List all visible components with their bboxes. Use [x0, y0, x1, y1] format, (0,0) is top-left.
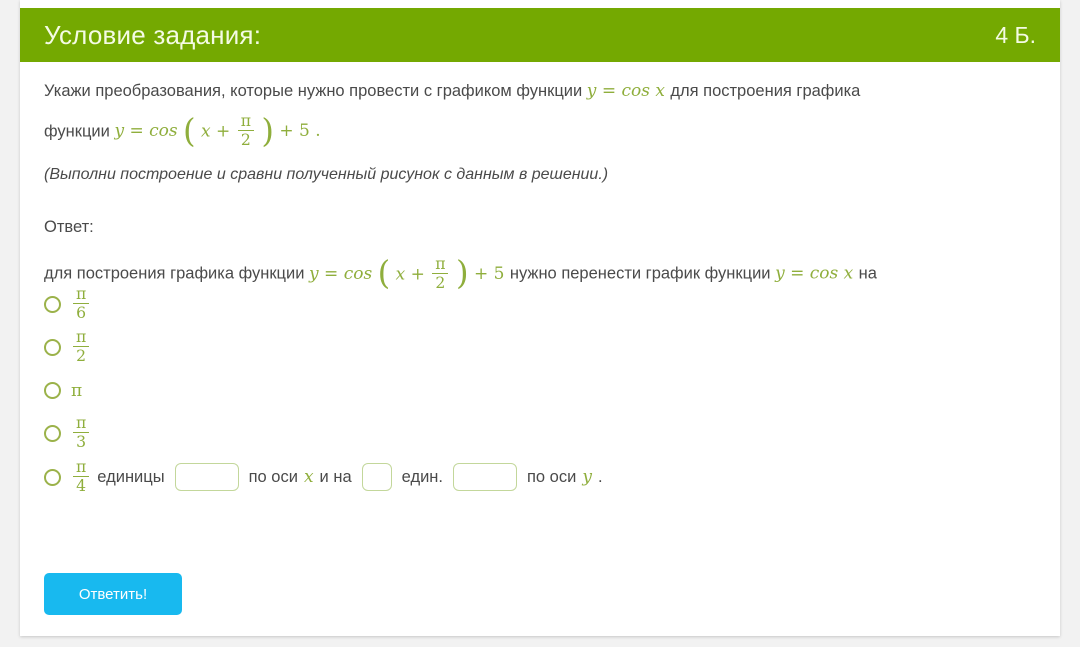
radio-button-pi-2[interactable] — [44, 339, 61, 356]
fraction-numerator: π — [432, 256, 448, 273]
answer-line-suffix: на — [859, 265, 877, 283]
option-row-pi-6[interactable]: π 6 — [44, 283, 1004, 326]
math-plus: + — [216, 121, 230, 141]
option-value-pi-6: π 6 — [71, 287, 91, 321]
math-y: y — [587, 81, 597, 101]
math-y: y — [775, 264, 785, 284]
fraction-denominator: 2 — [238, 130, 254, 148]
fraction-numerator: π — [238, 113, 254, 130]
page-title: Условие задания: — [44, 20, 261, 51]
fraction-pi-over-3: π 3 — [73, 415, 89, 449]
math-x: x — [201, 121, 211, 141]
formula-y-cos-x-answer: y = cos x — [775, 264, 859, 284]
task-card: Условие задания: 4 Б. Укажи преобразован… — [20, 0, 1060, 636]
math-equals: = — [129, 121, 143, 141]
math-five: 5 — [494, 264, 505, 284]
answer-line-middle: нужно перенести график функции — [510, 265, 771, 283]
question-line-2: функции y = cos ( x + π 2 ) + 5 . — [44, 107, 1034, 157]
math-cos: cos — [810, 264, 838, 284]
answer-label: Ответ: — [44, 215, 1034, 241]
math-period: . — [315, 121, 320, 141]
answer-line-prefix: для построения графика функции — [44, 265, 304, 283]
math-x: x — [844, 264, 854, 284]
question-line-1: Укажи преобразования, которые нужно пров… — [44, 78, 1034, 105]
axis-x-text-before: по оси — [249, 468, 298, 487]
formula-cos-x-plus-pi-half-plus-5-question: y = cos ( x + π 2 ) + 5 . — [114, 121, 320, 141]
submit-answer-button[interactable]: Ответить! — [44, 573, 182, 615]
option-value-pi-3: π 3 — [71, 416, 91, 450]
math-equals: = — [602, 81, 616, 101]
fraction-denominator: 3 — [73, 432, 89, 450]
math-cos: cos — [621, 81, 649, 101]
question-text-part-1: Укажи преобразования, которые нужно пров… — [44, 82, 582, 100]
option-value-pi-2: π 2 — [71, 330, 91, 364]
radio-button-pi[interactable] — [44, 382, 61, 399]
axis-y-variable: y — [582, 467, 592, 487]
math-x: x — [655, 81, 665, 101]
fraction-numerator: π — [73, 415, 89, 432]
units-short-label: един. — [402, 468, 443, 487]
math-x: x — [396, 264, 406, 284]
fraction-pi-over-2: π 2 — [73, 329, 89, 363]
radio-button-pi-3[interactable] — [44, 425, 61, 442]
option-row-pi-4[interactable]: π 4 единицы по оси x и на един. по оси y… — [44, 455, 1004, 499]
fraction-pi-over-2: π 2 — [238, 113, 254, 147]
math-cos: cos — [149, 121, 177, 141]
question-text-part-2: для построения графика — [670, 82, 860, 100]
question-line2-prefix: функции — [44, 122, 110, 140]
fraction-denominator: 4 — [73, 476, 89, 494]
math-cos: cos — [344, 264, 372, 284]
math-equals: = — [790, 264, 804, 284]
fraction-numerator: π — [73, 329, 89, 346]
shift-units-input[interactable] — [362, 463, 392, 491]
task-header: Условие задания: 4 Б. — [20, 8, 1060, 62]
fraction-pi-over-6: π 6 — [73, 286, 89, 320]
option-row-pi-2[interactable]: π 2 — [44, 326, 1004, 369]
math-y: y — [114, 121, 124, 141]
math-five: 5 — [299, 121, 310, 141]
option-row-pi[interactable]: π — [44, 369, 1004, 412]
shift-x-input[interactable] — [175, 463, 239, 491]
radio-button-pi-6[interactable] — [44, 296, 61, 313]
math-equals: = — [324, 264, 338, 284]
formula-y-cos-x-question: y = cos x — [587, 81, 671, 101]
formula-cos-x-plus-pi-half-plus-5-answer: y = cos ( x + π 2 ) + 5 — [309, 264, 510, 284]
option-row-pi-3[interactable]: π 3 — [44, 412, 1004, 455]
fraction-numerator: π — [73, 459, 89, 476]
question-note: (Выполни построение и сравни полученный … — [44, 163, 1034, 188]
axis-x-text-after: и на — [320, 468, 352, 487]
math-plus: + — [411, 264, 425, 284]
options-list: π 6 π 2 π — [44, 283, 1004, 499]
math-plus: + — [474, 264, 488, 284]
task-content: Укажи преобразования, которые нужно пров… — [44, 78, 1034, 299]
paren-open: ( — [183, 106, 196, 156]
points-badge: 4 Б. — [995, 22, 1036, 49]
trailing-period: . — [598, 468, 603, 487]
paren-close: ) — [261, 106, 274, 156]
fraction-pi-over-4: π 4 — [73, 459, 89, 493]
axis-x-variable: x — [304, 467, 314, 487]
axis-y-text-before: по оси — [527, 468, 576, 487]
option-value-pi-4: π 4 — [71, 460, 91, 494]
units-label: единицы — [97, 468, 164, 487]
math-plus: + — [279, 121, 293, 141]
shift-y-input[interactable] — [453, 463, 517, 491]
page-background: Условие задания: 4 Б. Укажи преобразован… — [0, 0, 1080, 647]
radio-button-pi-4[interactable] — [44, 469, 61, 486]
fraction-denominator: 2 — [73, 346, 89, 364]
fraction-numerator: π — [73, 286, 89, 303]
fraction-denominator: 6 — [73, 303, 89, 321]
math-y: y — [309, 264, 319, 284]
option-value-pi: π — [71, 381, 82, 401]
